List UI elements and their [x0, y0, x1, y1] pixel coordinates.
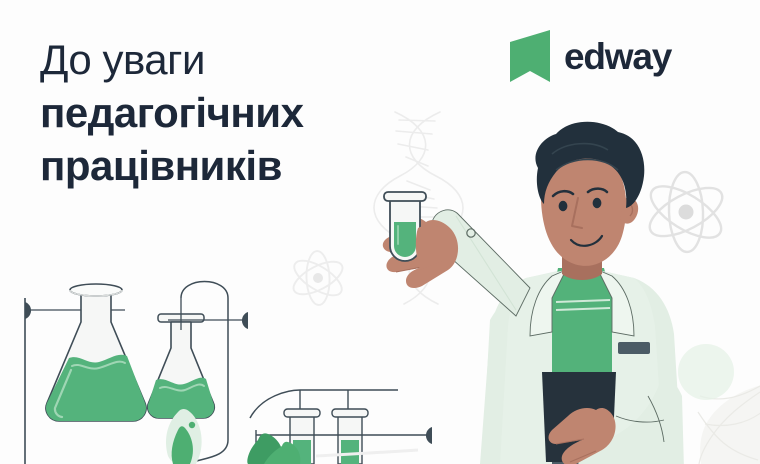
atom-icon-small — [289, 251, 347, 306]
shirt — [552, 268, 612, 450]
clipboard-and-arm — [542, 372, 684, 464]
erlenmeyer-flask-small — [148, 314, 214, 418]
laboratory-glassware-group — [0, 270, 470, 464]
flag-bookmark-icon — [506, 30, 554, 82]
headline-line-1: До уваги — [40, 34, 440, 86]
plant-leaf-decor — [166, 409, 202, 464]
lab-coat — [480, 266, 682, 464]
lab-stand-left — [25, 298, 125, 464]
test-tube-rack — [247, 390, 432, 464]
headline-block: До уваги педагогічних працівників — [40, 34, 440, 192]
trousers — [552, 448, 612, 464]
promo-banner: До уваги педагогічних працівників edway — [0, 0, 760, 464]
headline-line-2: педагогічних — [40, 86, 440, 139]
soft-circle-decor — [678, 344, 734, 400]
head — [535, 122, 644, 280]
edway-logo[interactable]: edway — [506, 30, 671, 82]
logo-wordmark: edway — [564, 38, 671, 75]
erlenmeyer-flask-large — [46, 284, 146, 421]
coat-lapels — [500, 270, 664, 464]
leaf-icon-right — [698, 385, 760, 464]
headline-line-3: працівників — [40, 139, 440, 192]
name-badge — [618, 342, 650, 354]
raised-arm-with-test-tube — [383, 192, 530, 316]
lab-stand-right — [168, 282, 248, 464]
sleeve-button — [467, 229, 475, 237]
atom-icon-large — [643, 171, 730, 252]
